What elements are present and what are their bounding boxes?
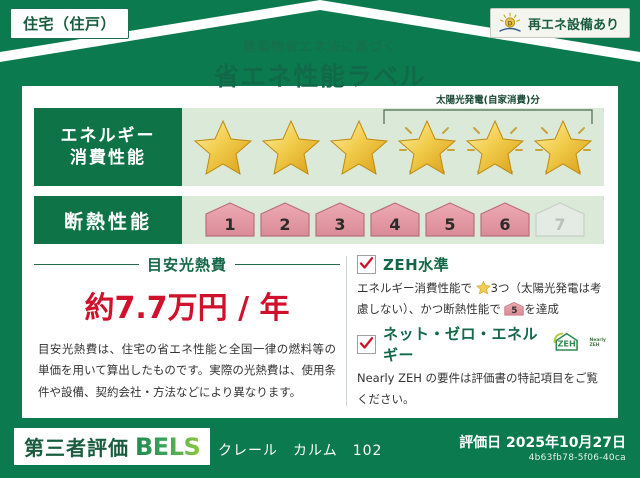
star-item-solar (394, 114, 460, 180)
check-icon (359, 256, 374, 271)
star-item-solar (462, 114, 528, 180)
star-list (182, 114, 596, 180)
column-divider (346, 256, 347, 406)
zeh-logo-sub-line2: ZEH (589, 343, 599, 348)
building-name: クレール カルム 102 (218, 440, 382, 460)
insulation-level-item: 4 (369, 201, 421, 239)
title-main: 省エネ性能ラベル (0, 57, 640, 93)
evaluation-id: 4b63fb78-5f06-40ca (529, 453, 626, 463)
zeh-standard-checkbox[interactable] (357, 255, 376, 274)
housing-type-badge: 住宅（住戸） (10, 8, 129, 39)
label-title-block: 建築物省エネ法に基づく 省エネ性能ラベル (0, 36, 640, 93)
zeh-standard-body: エネルギー消費性能で 3つ（太陽光発電は考慮しない）、かつ断熱性能で 5 を達成 (357, 278, 606, 319)
zeh-standard-text-3: を達成 (524, 302, 559, 316)
star-item-solar (530, 114, 596, 180)
insulation-performance-label: 断熱性能 (34, 196, 182, 244)
inline-star-icon (476, 280, 491, 295)
zeh-standard-heading: ZEH水準 (357, 254, 606, 275)
insulation-level-item: 6 (479, 201, 531, 239)
zeh-netzero-title: ネット・ゼロ・エネルギー (383, 323, 544, 365)
energy-performance-label: エネルギー 消費性能 (34, 108, 182, 186)
zeh-netzero-block: ネット・ゼロ・エネルギー ZEH Nearly ZEH (357, 323, 606, 409)
utility-cost-heading: 目安光熱費 (34, 254, 340, 275)
insulation-level-item: 2 (259, 201, 311, 239)
renewable-equipment-badge: D 再エネ設備あり (490, 8, 630, 38)
insulation-level-item: 1 (204, 201, 256, 239)
utility-cost-section: 目安光熱費 約7.7万円 / 年 目安光熱費は、住宅の省エネ性能と全国一律の燃料… (34, 252, 340, 410)
zeh-netzero-checkbox[interactable] (357, 335, 376, 354)
insulation-house-list: 1 2 3 4 (182, 201, 586, 239)
insulation-level-item-inactive: 7 (534, 201, 586, 239)
insulation-level-number: 7 (554, 215, 565, 239)
inline-insulation-badge: 5 (504, 301, 524, 317)
star-item (326, 114, 392, 180)
energy-star-rating: 太陽光発電(自家消費)分 (182, 108, 604, 186)
utility-cost-note: 目安光熱費は、住宅の省エネ性能と全国一律の燃料等の単価を用いて算出したものです。… (34, 339, 340, 403)
label-body-panel: エネルギー 消費性能 太陽光発電(自家消費)分 (22, 100, 618, 418)
star-item (190, 114, 256, 180)
zeh-section: ZEH水準 エネルギー消費性能で 3つ（太陽光発電は考慮しない）、かつ断熱性能で… (357, 252, 606, 410)
renewable-badge-label: 再エネ設備あり (528, 14, 619, 33)
utility-cost-amount: 約7.7万円 / 年 (34, 283, 340, 327)
inline-insulation-level: 5 (504, 303, 524, 319)
insulation-level-number: 2 (279, 215, 290, 239)
svg-text:ZEH: ZEH (558, 339, 577, 349)
insulation-level-number: 4 (389, 215, 400, 239)
svg-text:D: D (507, 20, 512, 27)
insulation-level-number: 3 (334, 215, 345, 239)
zeh-netzero-heading: ネット・ゼロ・エネルギー ZEH Nearly ZEH (357, 323, 606, 365)
bels-certification-mark: 第三者評価 BELS (14, 428, 210, 465)
zeh-logo-sublabel: Nearly ZEH (589, 339, 606, 349)
insulation-level-number: 6 (499, 215, 510, 239)
bels-en-logo: BELS (135, 433, 200, 461)
zeh-standard-block: ZEH水準 エネルギー消費性能で 3つ（太陽光発電は考慮しない）、かつ断熱性能で… (357, 254, 606, 319)
zeh-netzero-body: Nearly ZEH の要件は評価書の特記項目をご覧ください。 (357, 368, 606, 409)
insulation-performance-row: 断熱性能 1 2 3 (34, 196, 604, 244)
heading-rule-left (34, 264, 139, 265)
zeh-standard-text-1: エネルギー消費性能で (357, 281, 472, 295)
utility-cost-heading-text: 目安光熱費 (147, 254, 227, 275)
check-icon (359, 336, 374, 351)
solar-bracket-label: 太陽光発電(自家消費)分 (382, 92, 594, 106)
zeh-standard-star-count: 3つ (491, 281, 510, 295)
sun-renewable-icon: D (497, 12, 523, 34)
energy-performance-row: エネルギー 消費性能 太陽光発電(自家消費)分 (34, 108, 604, 186)
energy-label-line1: エネルギー (61, 125, 156, 147)
lower-section: 目安光熱費 約7.7万円 / 年 目安光熱費は、住宅の省エネ性能と全国一律の燃料… (34, 252, 606, 410)
evaluation-date: 評価日 2025年10月27日 (459, 432, 626, 452)
star-item (258, 114, 324, 180)
insulation-level-scale: 1 2 3 4 (182, 196, 604, 244)
bels-jp-label: 第三者評価 (24, 432, 129, 461)
zeh-logo-icon: ZEH (552, 331, 581, 357)
heading-rule-right (235, 264, 340, 265)
insulation-level-item: 5 (424, 201, 476, 239)
insulation-level-item: 3 (314, 201, 366, 239)
insulation-level-number: 5 (444, 215, 455, 239)
label-footer: 第三者評価 BELS クレール カルム 102 評価日 2025年10月27日 … (0, 420, 640, 478)
insulation-level-number: 1 (224, 215, 235, 239)
energy-label-line2: 消費性能 (70, 147, 146, 169)
zeh-standard-title: ZEH水準 (383, 254, 449, 275)
bels-energy-label: 住宅（住戸） D 再エネ設備あり 建築物省エネ法に基づく 省エネ性能ラベル (0, 0, 640, 478)
